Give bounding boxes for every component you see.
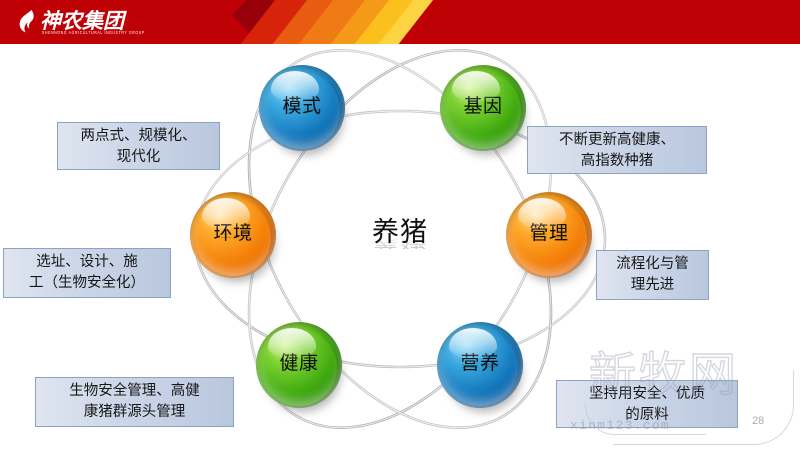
flame-icon bbox=[18, 10, 36, 34]
callout-jiankang: 生物安全管理、高健 康猪群源头管理 bbox=[35, 377, 234, 427]
node-label: 环境 bbox=[213, 224, 252, 243]
page-number: 28 bbox=[752, 415, 764, 427]
node-yingyang[interactable]: 营养 营养 bbox=[437, 322, 523, 408]
callout-moshi: 两点式、规模化、 现代化 bbox=[57, 122, 220, 170]
node-huanjing[interactable]: 环境 环境 bbox=[190, 192, 276, 278]
header-banner: 神农集团 SHENNONG AGRICULTURAL INDUSTRY GROU… bbox=[0, 0, 800, 44]
node-label: 营养 bbox=[460, 354, 499, 373]
node-jiankang[interactable]: 健康 健康 bbox=[256, 322, 342, 408]
node-guanli[interactable]: 管理 管理 bbox=[506, 192, 592, 278]
node-label: 健康 bbox=[279, 354, 318, 373]
center-label: 养猪 养猪 bbox=[320, 219, 480, 279]
callout-huanjing: 选址、设计、施 工（生物安全化） bbox=[3, 248, 171, 298]
callout-jiyin: 不断更新高健康、 高指数种猪 bbox=[527, 126, 707, 174]
cycle-diagram: 养猪 养猪 模式 模式 基因 基因 环境 环境 bbox=[0, 44, 800, 450]
header-red-right bbox=[470, 0, 800, 44]
callout-guanli: 流程化与管 理先进 bbox=[596, 250, 709, 300]
company-logo: 神农集团 SHENNONG AGRICULTURAL INDUSTRY GROU… bbox=[18, 7, 148, 39]
node-label: 基因 bbox=[463, 97, 502, 116]
node-jiyin[interactable]: 基因 基因 bbox=[440, 65, 526, 151]
callout-yingyang: 坚持用安全、优质 的原料 bbox=[556, 380, 738, 428]
logo-english-name: SHENNONG AGRICULTURAL INDUSTRY GROUP bbox=[42, 30, 145, 36]
center-label-reflection: 养猪 bbox=[320, 233, 480, 249]
node-label: 模式 bbox=[282, 97, 321, 116]
node-label: 管理 bbox=[529, 224, 568, 243]
slide-canvas: 神农集团 SHENNONG AGRICULTURAL INDUSTRY GROU… bbox=[0, 0, 800, 450]
node-moshi[interactable]: 模式 模式 bbox=[259, 65, 345, 151]
